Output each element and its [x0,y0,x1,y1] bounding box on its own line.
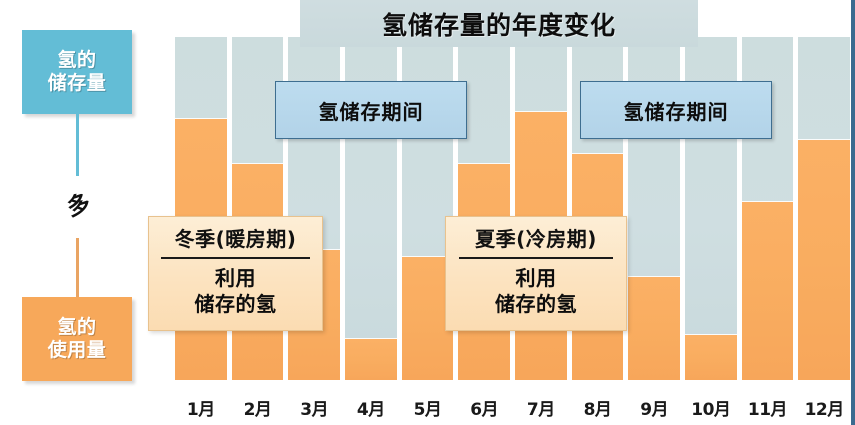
legend-connector-bottom [76,238,79,297]
x-axis-tick-label: 2月 [232,395,284,420]
chart-title: 氢储存量的年度变化 [382,6,616,42]
bar-segment-usage [345,339,397,380]
bar-segment-usage [685,335,737,380]
x-axis-tick-label: 8月 [572,395,624,420]
x-axis-tick-label: 5月 [402,395,454,420]
winter-divider [161,257,310,259]
legend-usage-box: 氢的 使用量 [22,297,132,381]
x-axis-tick-label: 6月 [458,395,510,420]
storage-period-label-2: 氢储存期间 [624,96,729,125]
bar-column [798,37,850,380]
x-axis-tick-label: 11月 [742,395,794,420]
x-axis-tick-label: 3月 [288,395,340,420]
chart-title-banner: 氢储存量的年度变化 [300,0,698,47]
legend-usage-line2: 使用量 [48,339,107,362]
legend-storage-line2: 储存量 [48,72,107,95]
winter-body-line2: 储存的氢 [195,292,277,318]
x-axis-tick-label: 1月 [175,395,227,420]
x-axis-tick-label: 4月 [345,395,397,420]
legend-more-label: 多 [57,179,100,227]
winter-body-line1: 利用 [195,266,277,292]
storage-period-banner-2: 氢储存期间 [580,81,772,139]
legend-storage-line1: 氢的 [57,49,96,72]
bar-chart: 1月2月3月4月5月6月7月8月9月10月11月12月 [175,0,855,425]
summer-heading: 夏季(冷房期) [475,223,597,256]
summer-body: 利用 储存的氢 [495,266,577,317]
summer-body-line2: 储存的氢 [495,292,577,318]
winter-body: 利用 储存的氢 [195,266,277,317]
legend-connector-top [76,114,79,176]
summer-divider [459,257,614,259]
season-callout-winter: 冬季(暖房期) 利用 储存的氢 [148,216,323,331]
bar-segment-usage [742,202,794,380]
infographic-canvas: 氢的 储存量 多 氢的 使用量 1月2月3月4月5月6月7月8月9月10月11月… [0,0,855,425]
legend-storage-box: 氢的 储存量 [22,30,132,114]
x-axis-tick-label: 10月 [685,395,737,420]
x-axis-tick-label: 9月 [628,395,680,420]
winter-heading: 冬季(暖房期) [175,223,297,256]
legend-usage-line1: 氢的 [57,316,96,339]
storage-period-banner-1: 氢储存期间 [275,81,467,139]
summer-body-line1: 利用 [495,266,577,292]
season-callout-summer: 夏季(冷房期) 利用 储存的氢 [445,216,627,331]
x-axis-tick-label: 7月 [515,395,567,420]
bar-segment-usage [628,277,680,380]
storage-period-label-1: 氢储存期间 [319,96,424,125]
x-axis-tick-label: 12月 [798,395,850,420]
bar-segment-usage [798,140,850,380]
